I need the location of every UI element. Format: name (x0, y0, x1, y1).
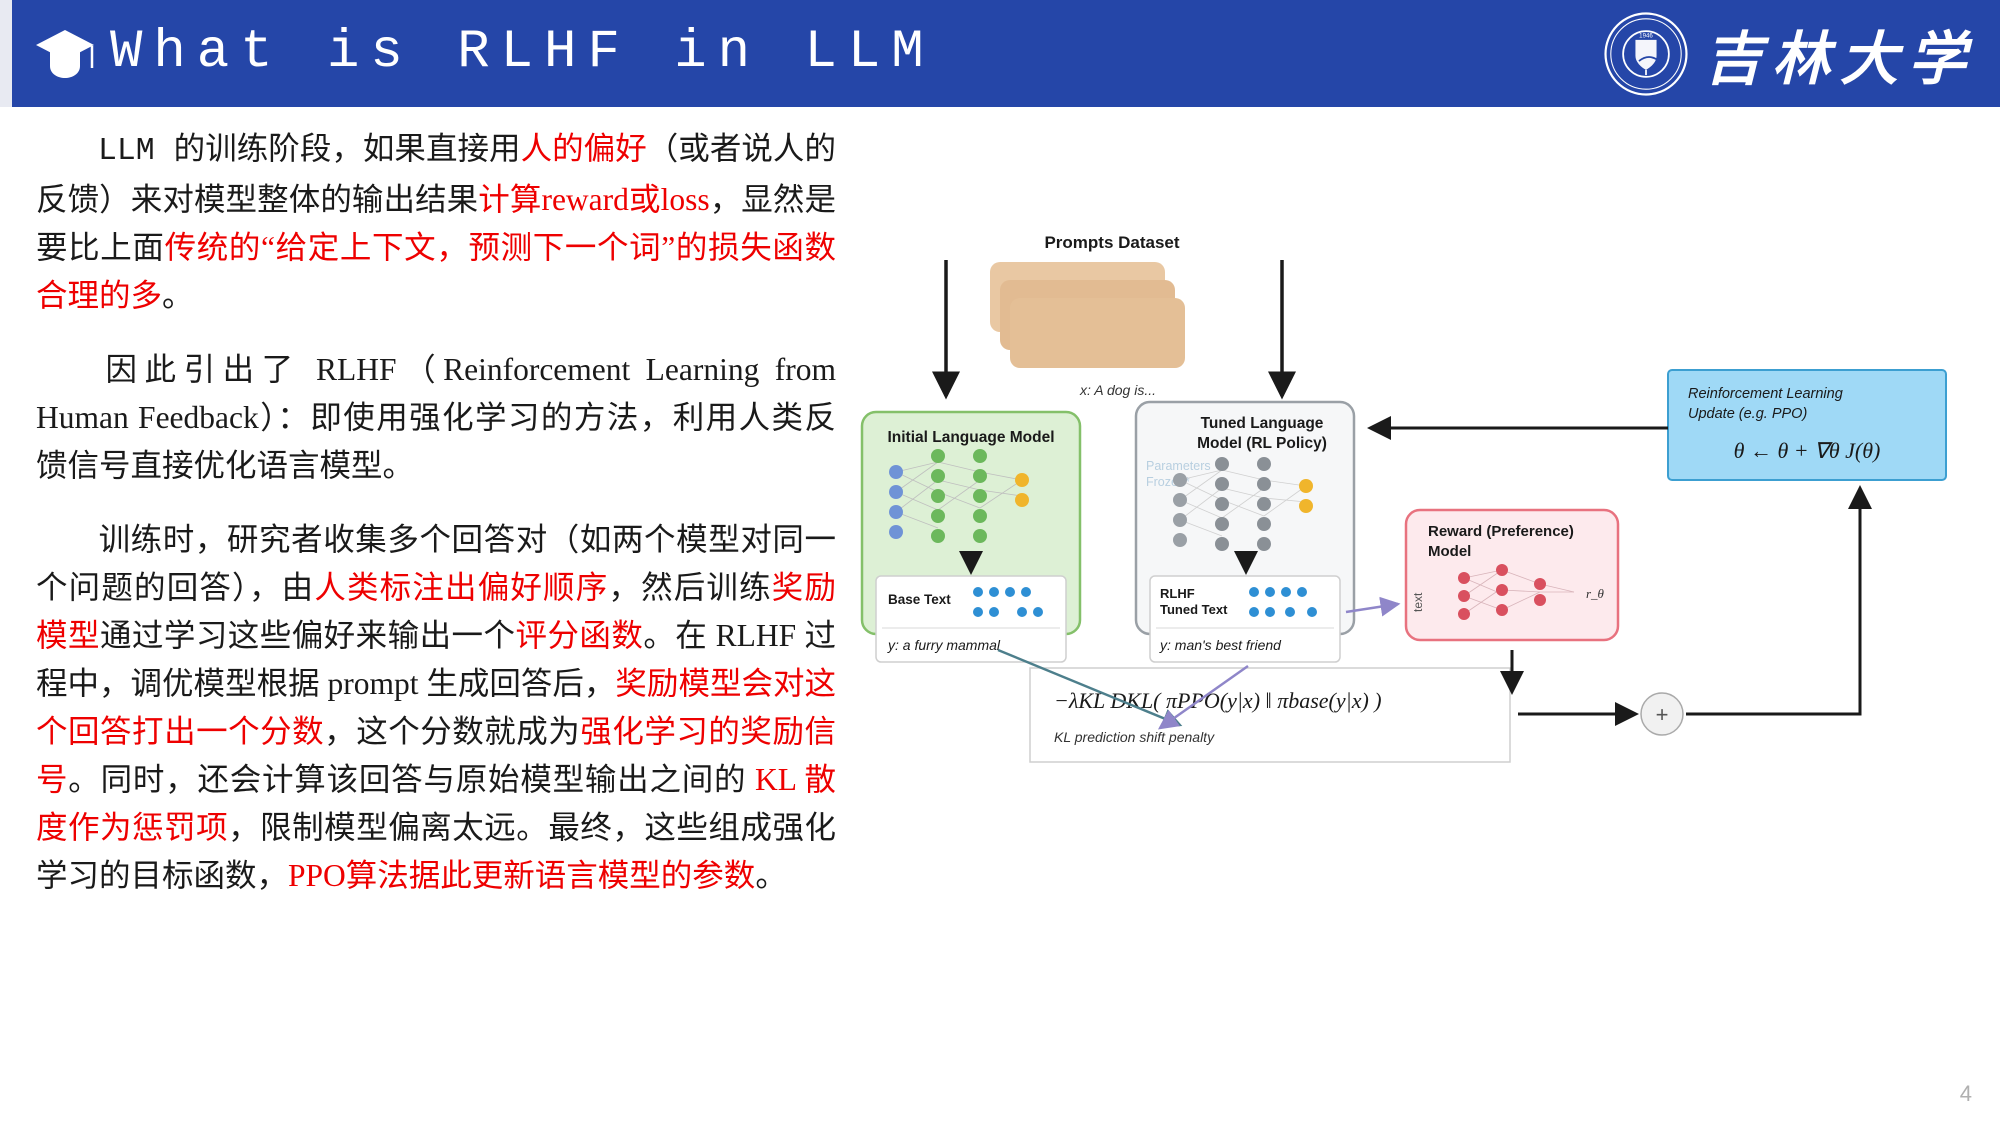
slide-body-text: LLM 的训练阶段，如果直接用人的偏好（或者说人的反馈）来对模型整体的输出结果计… (36, 125, 836, 926)
text-run: 通过学习这些偏好来输出一个 (100, 618, 516, 653)
text-run: 。 (162, 278, 194, 313)
reward-model-side-label: text (1411, 592, 1425, 612)
kl-formula: −λKL DKL( πPPO(y|x) ‖ πbase(y|x) ) (1054, 688, 1382, 713)
page-title: What is RLHF in LLM (110, 22, 935, 83)
reward-model-output-symbol: r_θ (1586, 586, 1605, 601)
initial-model-label: Initial Language Model (887, 429, 1054, 446)
text-run: 评分函数 (515, 618, 643, 653)
kl-caption: KL prediction shift penalty (1054, 729, 1215, 745)
rlhf-text-label-line2: Tuned Text (1160, 602, 1228, 617)
rl-update-formula: θ ← θ + ∇θ J(θ) (1734, 438, 1881, 463)
text-run: ，然后训练 (608, 570, 771, 605)
sum-node: + (1641, 693, 1683, 735)
text-run: LLM (98, 134, 174, 169)
prompt-example-text: x: A dog is... (1079, 382, 1156, 398)
rlhf-text-label-line1: RLHF (1160, 586, 1195, 601)
reward-model-label-line2: Model (1428, 543, 1471, 560)
tuned-model-label-line2: Model (RL Policy) (1197, 435, 1327, 452)
sum-node-symbol: + (1656, 702, 1669, 727)
header-left-accent-bar (0, 0, 12, 107)
text-run: 因此引出了 RLHF（Reinforcement Learning from H… (36, 352, 836, 483)
paragraph-2: 因此引出了 RLHF（Reinforcement Learning from H… (36, 346, 836, 490)
rlhf-training-pipeline-diagram: Prompts Dataset x: A dog is... Initial L… (850, 180, 1980, 780)
rl-update-box: Reinforcement Learning Update (e.g. PPO)… (1668, 370, 1946, 480)
rl-update-label-line2: Update (e.g. PPO) (1688, 406, 1807, 422)
tuned-language-model-box: Tuned Language Model (RL Policy) Paramet… (1136, 402, 1354, 662)
paragraph-1: LLM 的训练阶段，如果直接用人的偏好（或者说人的反馈）来对模型整体的输出结果计… (36, 125, 836, 320)
base-text-label: Base Text (888, 592, 951, 607)
kl-penalty-box: −λKL DKL( πPPO(y|x) ‖ πbase(y|x) ) KL pr… (1030, 668, 1510, 762)
text-run: 人的偏好 (521, 131, 647, 166)
base-text-output: y: a furry mammal (887, 637, 1001, 653)
prompts-dataset-label: Prompts Dataset (1044, 233, 1179, 252)
rl-update-label-line1: Reinforcement Learning (1688, 386, 1843, 402)
rlhf-text-output: y: man's best friend (1159, 637, 1282, 653)
page-number: 4 (1960, 1081, 1972, 1107)
text-run: 。同时，还会计算该回答与原始模型输出之间的 (68, 762, 755, 797)
text-run: 人类标注出偏好顺序 (314, 570, 608, 605)
reward-model-box: Reward (Preference) Model text r_θ (1406, 510, 1618, 640)
text-run: PPO算法据此更新语言模型的参数 (288, 858, 755, 893)
text-run: 。 (755, 858, 787, 893)
text-run: 计算reward或loss (478, 182, 709, 217)
tuned-model-label-line1: Tuned Language (1201, 415, 1324, 432)
reward-model-label-line1: Reward (Preference) (1428, 523, 1574, 540)
seal-year-text: 1946 (1639, 32, 1653, 39)
university-wordmark: 吉林大学 (1704, 12, 1976, 96)
text-run: 的训练阶段，如果直接用 (174, 131, 521, 166)
slide-header: What is RLHF in LLM 1946 吉林大学 (0, 0, 2000, 107)
prompts-dataset-stack-icon (990, 262, 1185, 368)
paragraph-3: 训练时，研究者收集多个回答对（如两个模型对同一个问题的回答），由人类标注出偏好顺… (36, 516, 836, 900)
initial-language-model-box: Initial Language Model Bas (862, 412, 1080, 662)
text-run: ，这个分数就成为 (324, 714, 580, 749)
university-logo: 1946 吉林大学 (1602, 8, 1976, 100)
parameters-frozen-line1: Parameters (1146, 459, 1211, 473)
graduation-cap-icon (34, 28, 96, 80)
jilin-university-seal-icon: 1946 (1602, 10, 1690, 98)
arrow-sum-to-rl-update (1686, 488, 1860, 714)
